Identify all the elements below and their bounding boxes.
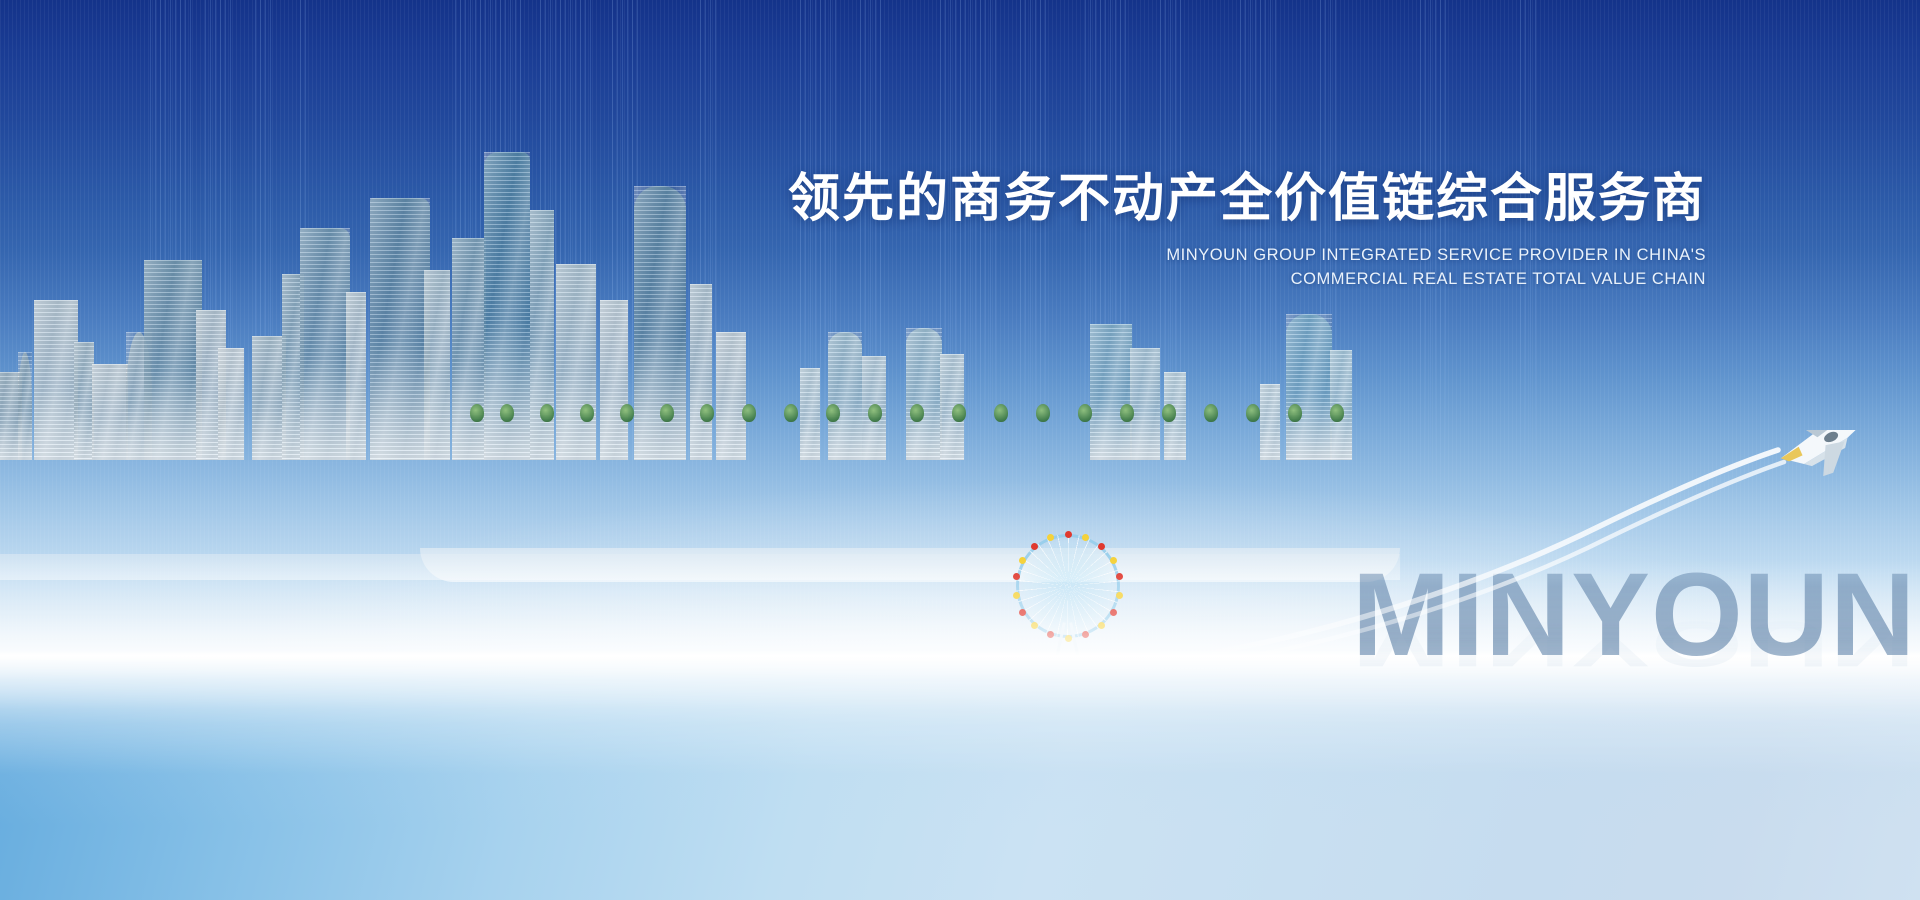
building <box>716 332 746 460</box>
tree <box>742 404 756 422</box>
tree <box>826 404 840 422</box>
building <box>800 368 820 460</box>
ferris-wheel-cabin <box>1098 543 1105 550</box>
banner-subtitle-line-1: MINYOUN GROUP INTEGRATED SERVICE PROVIDE… <box>600 244 1706 267</box>
tree <box>1078 404 1092 422</box>
building-glass-reflection <box>600 300 628 460</box>
contrail-and-plane-svg <box>1150 430 1920 670</box>
building-glass-reflection <box>92 364 128 460</box>
ferris-wheel-cabin <box>1065 531 1072 538</box>
hero-banner: MINYOUN MINYOUN <box>0 0 1920 900</box>
ferris-wheel-cabin <box>1019 557 1026 564</box>
building <box>690 284 712 460</box>
building <box>556 264 596 460</box>
ferris-wheel <box>1012 530 1124 642</box>
tree <box>1246 404 1260 422</box>
building-glass-reflection <box>690 284 712 460</box>
tree <box>1120 404 1134 422</box>
skyline-mirror <box>0 655 1920 865</box>
banner-text-block: 领先的商务不动产全价值链综合服务商 MINYOUN GROUP INTEGRAT… <box>600 170 1706 291</box>
building <box>252 336 286 460</box>
ferris-wheel-cabin <box>1082 534 1089 541</box>
building <box>34 300 78 460</box>
ferris-wheel-cabin <box>1110 557 1117 564</box>
building <box>906 328 942 460</box>
tree <box>994 404 1008 422</box>
tree <box>620 404 634 422</box>
tree <box>1204 404 1218 422</box>
building-glass-reflection <box>218 348 244 460</box>
ferris-wheel-cabin <box>1116 592 1123 599</box>
building <box>600 300 628 460</box>
ferris-wheel-cabin <box>1013 592 1020 599</box>
building-glass-reflection <box>1090 324 1132 460</box>
ferris-wheel-cabin <box>1082 631 1089 638</box>
tree <box>1162 404 1176 422</box>
building <box>144 260 202 460</box>
building <box>74 342 94 460</box>
tree <box>1330 404 1344 422</box>
airplane-scene <box>1150 430 1920 670</box>
building <box>828 332 862 460</box>
tree <box>1288 404 1302 422</box>
ferris-wheel-cabin <box>1031 543 1038 550</box>
building-glass-reflection <box>252 336 286 460</box>
ferris-wheel-cabin <box>1065 635 1072 642</box>
tree <box>500 404 514 422</box>
building-glass-reflection <box>144 260 202 460</box>
tree <box>784 404 798 422</box>
building <box>1090 324 1132 460</box>
tree <box>580 404 594 422</box>
tree <box>700 404 714 422</box>
building-glass-reflection <box>300 228 350 460</box>
building <box>300 228 350 460</box>
ferris-wheel-cabin <box>1110 609 1117 616</box>
building-glass-reflection <box>828 332 862 460</box>
building-glass-reflection <box>800 368 820 460</box>
building-glass-reflection <box>34 300 78 460</box>
tree <box>952 404 966 422</box>
building-glass-reflection <box>556 264 596 460</box>
tree <box>470 404 484 422</box>
building-glass-reflection <box>346 292 366 460</box>
tree <box>910 404 924 422</box>
contrail-icon <box>1150 450 1784 670</box>
building <box>346 292 366 460</box>
building-glass-reflection <box>452 238 486 460</box>
building-glass-reflection <box>716 332 746 460</box>
ferris-wheel-cabin <box>1047 631 1054 638</box>
building <box>92 364 128 460</box>
ferris-wheel-cabin <box>1019 609 1026 616</box>
building-glass-reflection <box>906 328 942 460</box>
building <box>424 270 450 460</box>
building <box>18 352 32 460</box>
building-glass-reflection <box>74 342 94 460</box>
banner-headline: 领先的商务不动产全价值链综合服务商 <box>600 170 1706 228</box>
banner-subtitle-line-2: COMMERCIAL REAL ESTATE TOTAL VALUE CHAIN <box>600 268 1706 291</box>
building <box>370 198 430 460</box>
ferris-wheel-cabin <box>1098 622 1105 629</box>
tree <box>660 404 674 422</box>
building-glass-reflection <box>530 210 554 460</box>
building <box>530 210 554 460</box>
building <box>218 348 244 460</box>
tree <box>868 404 882 422</box>
tree <box>1036 404 1050 422</box>
building-glass-reflection <box>18 352 32 460</box>
building <box>452 238 486 460</box>
building-glass-reflection <box>424 270 450 460</box>
ferris-wheel-cabin <box>1047 534 1054 541</box>
building-glass-reflection <box>370 198 430 460</box>
ferris-wheel-cabin <box>1116 573 1123 580</box>
tree <box>540 404 554 422</box>
